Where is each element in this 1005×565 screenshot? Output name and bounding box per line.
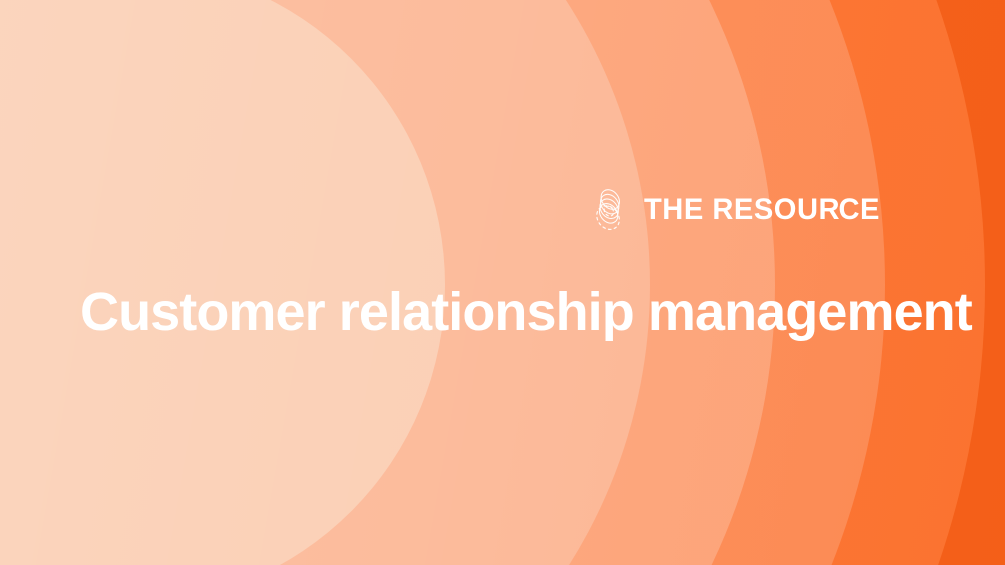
brand-wordmark-main: THE RESOUR [644, 195, 840, 225]
brand-wordmark: THE RESOURCE [644, 195, 880, 225]
concentric-rings-logo-mark-icon [586, 187, 632, 233]
slide-title: Customer relationship management [80, 284, 940, 341]
brand-wordmark-ce-ligature: CE [838, 195, 879, 225]
title-slide: THE RESOURCE Customer relationship manag… [0, 0, 1005, 565]
brand-logo-lockup: THE RESOURCE [586, 186, 887, 234]
